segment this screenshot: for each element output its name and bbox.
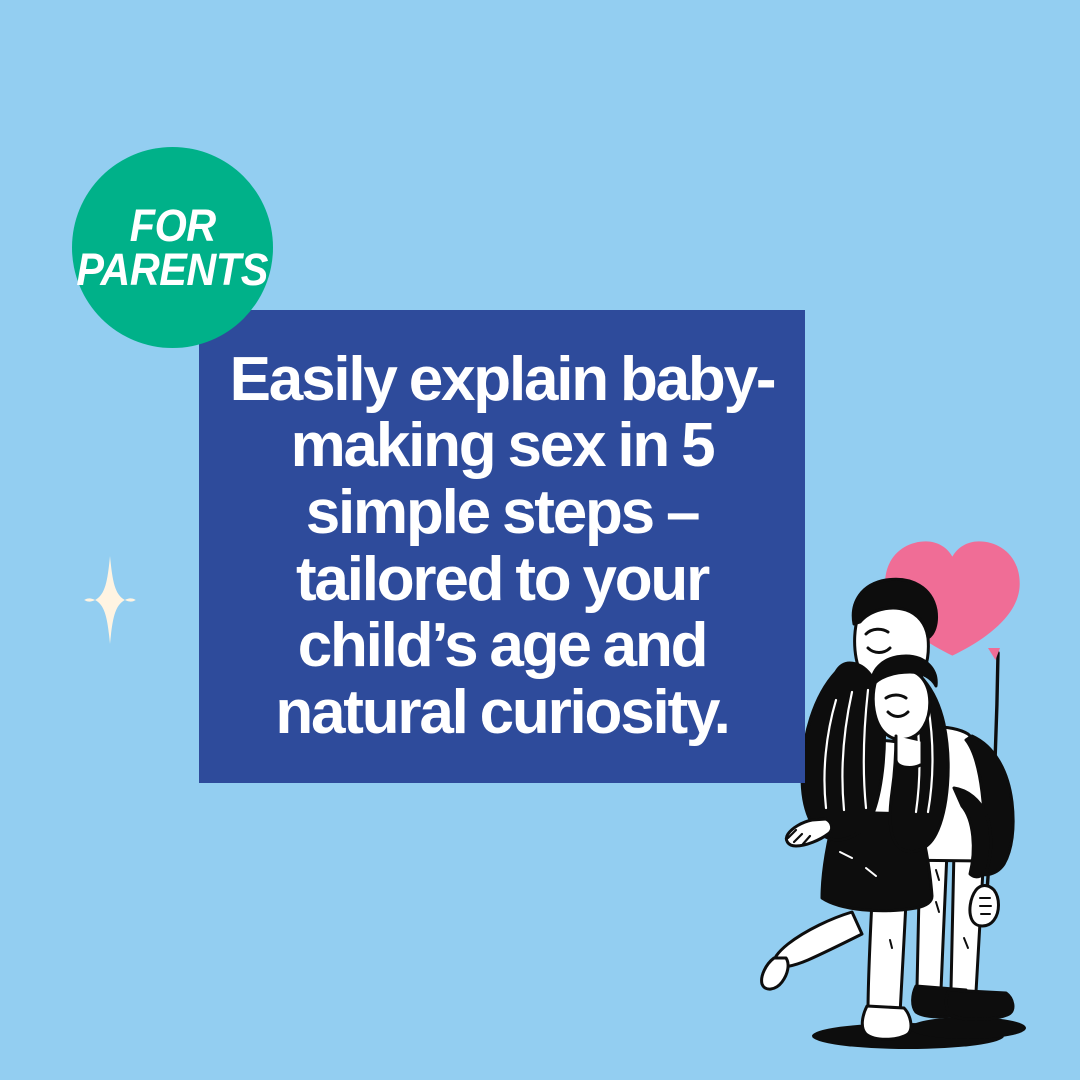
page-title: Easily explain baby-making sex in 5 simp…	[199, 347, 805, 747]
for-parents-badge: FOR PARENTS	[72, 147, 273, 348]
badge-label-line-1: FOR	[129, 205, 215, 246]
badge-label-line-2: PARENTS	[77, 249, 269, 290]
sparkle-icon	[84, 556, 136, 644]
headline-panel: Easily explain baby-making sex in 5 simp…	[199, 310, 805, 783]
poster-canvas: Easily explain baby-making sex in 5 simp…	[0, 0, 1080, 1080]
woman-leg-standing	[868, 900, 906, 1014]
woman-boot-raised	[762, 958, 788, 989]
man-shoe-right	[946, 990, 1013, 1019]
woman-boot-standing	[862, 1006, 911, 1039]
